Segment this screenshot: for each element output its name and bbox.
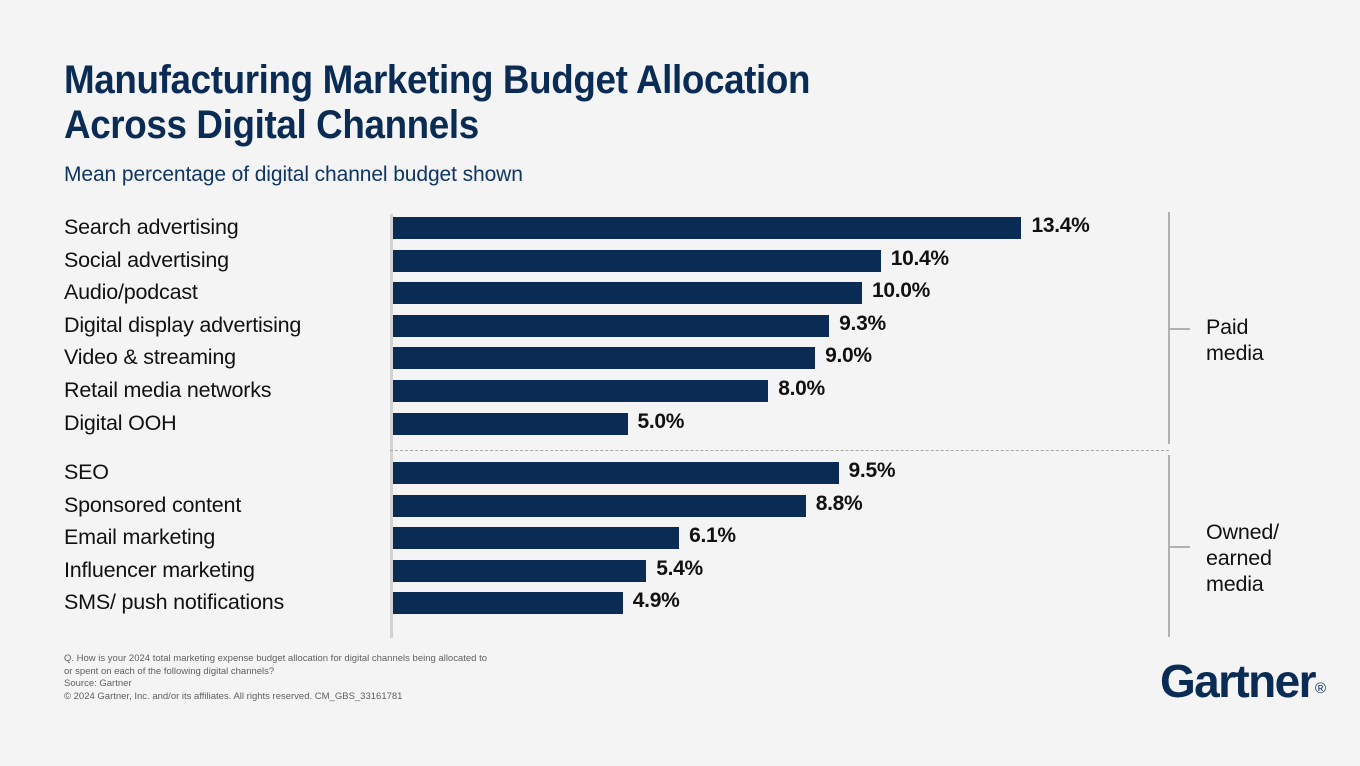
category-label: Video & streaming (64, 342, 380, 375)
bar-value-label: 10.4% (891, 247, 949, 271)
category-label: Digital display advertising (64, 310, 380, 343)
category-label: Influencer marketing (64, 555, 380, 588)
bar (393, 462, 839, 484)
bar-value-label: 5.4% (656, 557, 703, 581)
bar-row: SMS/ push notifications4.9% (64, 587, 1304, 620)
bar-chart-plot-area: Search advertising13.4%Social advertisin… (64, 212, 1304, 640)
bracket-tick (1168, 546, 1190, 548)
group-label-paid-media: Paid media (1206, 314, 1264, 366)
bar (393, 413, 628, 435)
bar-value-label: 8.0% (778, 377, 825, 401)
bar (393, 527, 679, 549)
bar (393, 250, 881, 272)
bar-value-label: 13.4% (1031, 214, 1089, 238)
source-line: Source: Gartner (64, 678, 764, 691)
bar-value-label: 9.5% (849, 459, 896, 483)
bar-value-label: 9.0% (825, 344, 872, 368)
bar-row: Influencer marketing5.4% (64, 555, 1304, 588)
category-label: Search advertising (64, 212, 380, 245)
gartner-wordmark: Gartner (1160, 655, 1315, 707)
bar-row: Social advertising10.4% (64, 245, 1304, 278)
bar (393, 592, 623, 614)
bar-group-paid-media: Search advertising13.4%Social advertisin… (64, 212, 1304, 440)
bar-row: SEO9.5% (64, 457, 1304, 490)
bar-value-label: 9.3% (839, 312, 886, 336)
category-label: Sponsored content (64, 490, 380, 523)
bar (393, 282, 862, 304)
bar-row: Email marketing6.1% (64, 522, 1304, 555)
bar (393, 217, 1021, 239)
chart-subtitle: Mean percentage of digital channel budge… (64, 162, 1164, 187)
bar-row: Retail media networks8.0% (64, 375, 1304, 408)
category-label: Digital OOH (64, 408, 380, 441)
bar-value-label: 5.0% (638, 410, 685, 434)
bar-row: Sponsored content8.8% (64, 490, 1304, 523)
footnotes: Q. How is your 2024 total marketing expe… (64, 653, 764, 703)
bar-row: Video & streaming9.0% (64, 342, 1304, 375)
registered-trademark-icon: ® (1315, 680, 1326, 697)
bar-group-owned-earned-media: SEO9.5%Sponsored content8.8%Email market… (64, 457, 1304, 620)
bracket-tick (1168, 328, 1190, 330)
bar-value-label: 6.1% (689, 524, 736, 548)
bar (393, 315, 829, 337)
gartner-logo: Gartner® (1160, 655, 1326, 715)
chart-header: Manufacturing Marketing Budget Allocatio… (64, 58, 1164, 187)
category-label: Social advertising (64, 245, 380, 278)
page-title: Manufacturing Marketing Budget Allocatio… (64, 58, 1076, 148)
category-label: Email marketing (64, 522, 380, 555)
category-label: Audio/podcast (64, 277, 380, 310)
bar (393, 347, 815, 369)
category-label: Retail media networks (64, 375, 380, 408)
survey-question: Q. How is your 2024 total marketing expe… (64, 653, 764, 678)
bar (393, 380, 768, 402)
group-label-owned-earned-media: Owned/ earned media (1206, 519, 1279, 597)
bar-row: Search advertising13.4% (64, 212, 1304, 245)
bar-value-label: 10.0% (872, 279, 930, 303)
copyright-line: © 2024 Gartner, Inc. and/or its affiliat… (64, 691, 764, 704)
bar-row: Digital OOH5.0% (64, 408, 1304, 441)
bar-value-label: 4.9% (633, 589, 680, 613)
bar (393, 560, 646, 582)
category-label: SEO (64, 457, 380, 490)
group-divider-line (390, 450, 1169, 451)
bar-value-label: 8.8% (816, 492, 863, 516)
category-label: SMS/ push notifications (64, 587, 380, 620)
bar-row: Digital display advertising9.3% (64, 310, 1304, 343)
bar (393, 495, 806, 517)
bar-row: Audio/podcast10.0% (64, 277, 1304, 310)
